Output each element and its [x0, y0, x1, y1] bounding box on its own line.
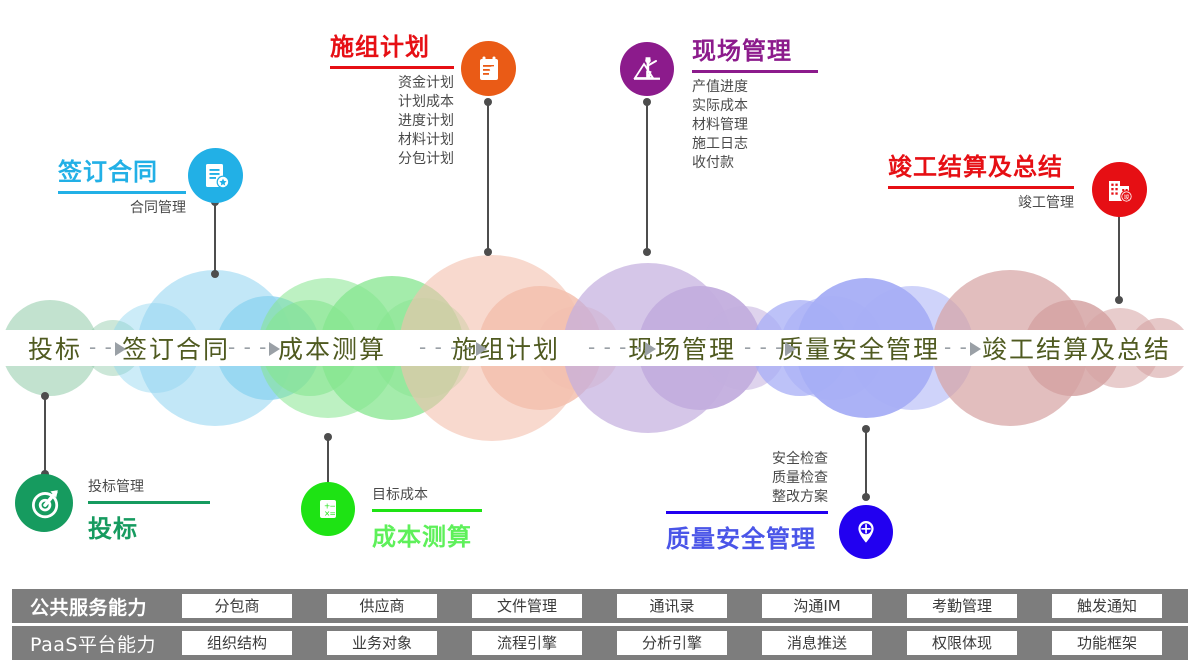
worker-shovel-icon [631, 53, 663, 85]
icon-circle-bidding[interactable] [15, 474, 73, 532]
callout-sub-item: 施工日志 [692, 135, 818, 154]
chevron-right-icon [645, 342, 656, 356]
capability-cell[interactable]: 功能框架 [1052, 631, 1162, 655]
callout-sub-item: 目标成本 [372, 486, 482, 505]
callout-title: 质量安全管理 [666, 519, 828, 554]
callout-title: 投标 [88, 509, 210, 544]
capability-cell[interactable]: 考勤管理 [907, 594, 1017, 618]
target-dart-icon [27, 486, 61, 520]
callout-sub-item: 计划成本 [330, 93, 454, 112]
callout-rule [330, 66, 454, 69]
svg-text:=: = [330, 509, 336, 518]
icon-circle-quality-safety[interactable] [839, 505, 893, 559]
callout-rule [692, 70, 818, 73]
callout-sub-item: 质量检查 [666, 469, 828, 488]
flow-arrow-6: - - [944, 339, 981, 359]
callout-sub-item: 产值进度 [692, 78, 818, 97]
callout-sub-item: 资金计划 [330, 74, 454, 93]
flow-step-row: 投标签订合同成本测算施组计划现场管理质量安全管理竣工结算及总结- -- - --… [0, 330, 1200, 366]
svg-text:竣: 竣 [1123, 192, 1129, 200]
row-label: PaaS平台能力 [12, 630, 182, 657]
calculator-icon: + − × = [313, 494, 343, 524]
icon-circle-cost-estimate[interactable]: + − × = [301, 482, 355, 536]
callout-title: 现场管理 [692, 31, 818, 66]
flow-arrow-dashes: - - - [228, 337, 267, 357]
callout-completion: 竣工结算及总结 竣工管理 [888, 147, 1074, 213]
callout-cost-estimate: 目标成本 成本测算 [372, 486, 482, 552]
capability-cell[interactable]: 触发通知 [1052, 594, 1162, 618]
chevron-right-icon [476, 342, 487, 356]
callout-site-management: 现场管理 产值进度 实际成本 材料管理 施工日志 收付款 [692, 31, 818, 173]
flow-step-1[interactable]: 投标 [28, 330, 82, 366]
callout-rule [88, 501, 210, 504]
location-pin-cross-icon [851, 517, 881, 547]
chevron-right-icon [970, 342, 981, 356]
capability-cell[interactable]: 流程引擎 [472, 631, 582, 655]
callout-sub-item: 材料计划 [330, 131, 454, 150]
diagram-canvas: 投标签订合同成本测算施组计划现场管理质量安全管理竣工结算及总结- -- - --… [0, 0, 1200, 666]
flow-step-6[interactable]: 质量安全管理 [778, 330, 940, 366]
callout-bidding: 投标管理 投标 [88, 478, 210, 544]
callout-title: 竣工结算及总结 [888, 147, 1074, 182]
callout-title: 签订合同 [58, 152, 186, 187]
capability-cell[interactable]: 消息推送 [762, 631, 872, 655]
callout-quality-safety: 安全检查 质量检查 整改方案 质量安全管理 [666, 450, 828, 554]
capability-cell[interactable]: 通讯录 [617, 594, 727, 618]
callout-rule [372, 509, 482, 512]
callout-sub-item: 投标管理 [88, 478, 210, 497]
capability-cell[interactable]: 业务对象 [327, 631, 437, 655]
row-cells: 分包商供应商文件管理通讯录沟通IM考勤管理触发通知 [182, 594, 1188, 618]
clipboard-wrench-icon [473, 53, 505, 85]
callout-sub-item: 分包计划 [330, 150, 454, 169]
flow-arrow-dashes: - - [89, 337, 113, 357]
flow-arrow-dashes: - - - [744, 337, 783, 357]
capability-cell[interactable]: 权限体现 [907, 631, 1017, 655]
callout-title: 施组计划 [330, 27, 454, 62]
chevron-right-icon [269, 342, 280, 356]
icon-circle-contract[interactable] [188, 148, 243, 203]
capability-cell[interactable]: 分包商 [182, 594, 292, 618]
icon-circle-site-management[interactable] [620, 42, 674, 96]
table-row-public-service: 公共服务能力 分包商供应商文件管理通讯录沟通IM考勤管理触发通知 [12, 589, 1188, 623]
row-label: 公共服务能力 [12, 593, 182, 620]
callout-contract: 签订合同 合同管理 [58, 152, 186, 218]
callout-sub-item: 合同管理 [58, 199, 186, 218]
callout-sub-item: 安全检查 [666, 450, 828, 469]
flow-arrow-dashes: - - - - [419, 337, 474, 357]
callout-rule [58, 191, 186, 194]
callout-sub-item: 材料管理 [692, 116, 818, 135]
flow-step-2[interactable]: 签订合同 [122, 330, 230, 366]
icon-circle-completion[interactable]: 竣 [1092, 162, 1147, 217]
callout-sub-item: 整改方案 [666, 488, 828, 507]
icon-circle-construction-plan[interactable] [461, 41, 516, 96]
callout-rule [888, 186, 1074, 189]
capability-cell[interactable]: 文件管理 [472, 594, 582, 618]
document-seal-icon [200, 160, 232, 192]
capability-cell[interactable]: 供应商 [327, 594, 437, 618]
capability-cell[interactable]: 组织结构 [182, 631, 292, 655]
callout-rule [666, 511, 828, 514]
platform-capability-table: 公共服务能力 分包商供应商文件管理通讯录沟通IM考勤管理触发通知 PaaS平台能… [12, 589, 1188, 663]
callout-construction-plan: 施组计划 资金计划 计划成本 进度计划 材料计划 分包计划 [330, 27, 454, 169]
row-cells: 组织结构业务对象流程引擎分析引擎消息推送权限体现功能框架 [182, 631, 1188, 655]
flow-step-7[interactable]: 竣工结算及总结 [982, 330, 1171, 366]
flow-arrow-dashes: - - - - [588, 337, 643, 357]
table-row-paas: PaaS平台能力 组织结构业务对象流程引擎分析引擎消息推送权限体现功能框架 [12, 626, 1188, 660]
flow-arrow-dashes: - - [944, 337, 968, 357]
chevron-right-icon [115, 342, 126, 356]
flow-arrow-3: - - - - [419, 339, 487, 359]
callout-sub-item: 收付款 [692, 154, 818, 173]
building-seal-icon: 竣 [1104, 174, 1136, 206]
callout-title: 成本测算 [372, 517, 482, 552]
flow-arrow-5: - - - [744, 339, 796, 359]
chevron-right-icon [785, 342, 796, 356]
callout-sub-item: 竣工管理 [888, 194, 1074, 213]
callout-sub-item: 进度计划 [330, 112, 454, 131]
flow-arrow-2: - - - [228, 339, 280, 359]
flow-arrow-4: - - - - [588, 339, 656, 359]
flow-step-3[interactable]: 成本测算 [278, 330, 386, 366]
callout-sub-item: 实际成本 [692, 97, 818, 116]
capability-cell[interactable]: 沟通IM [762, 594, 872, 618]
flow-arrow-1: - - [89, 339, 126, 359]
capability-cell[interactable]: 分析引擎 [617, 631, 727, 655]
